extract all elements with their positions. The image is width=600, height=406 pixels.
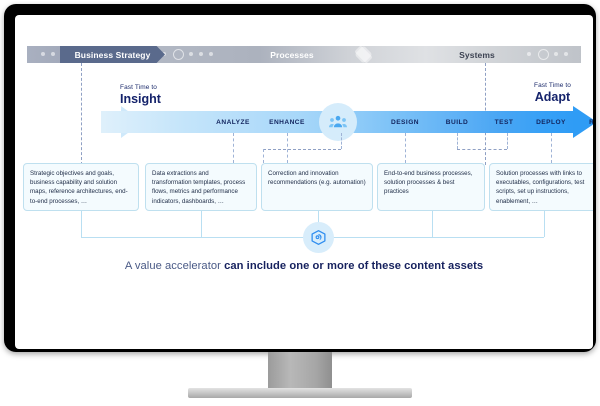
caption-emphasis: can include one or more of these content… <box>224 260 483 272</box>
slide-content: Business Strategy Processes Systems Fast… <box>15 15 593 349</box>
phase-deploy[interactable]: DEPLOY <box>525 111 577 133</box>
layer-business-strategy-label: Business Strategy <box>75 50 151 60</box>
phase-arrow-band: ANALYZE ENHANCE DESIGN <box>101 111 593 133</box>
phase-build[interactable]: BUILD <box>433 111 481 133</box>
monitor-screen: Business Strategy Processes Systems Fast… <box>15 15 593 349</box>
monitor-stand-base <box>188 388 412 398</box>
connector-design-system <box>405 133 406 163</box>
connector-deploy <box>551 133 552 163</box>
content-asset-box[interactable]: Strategic objectives and goals, business… <box>23 163 139 211</box>
cube-icon <box>303 222 334 253</box>
phase-run[interactable]: RUN <box>575 111 593 133</box>
content-asset-box[interactable]: Data extractions and transformation temp… <box>145 163 257 211</box>
phase-enhance-label: ENHANCE <box>269 119 305 126</box>
connector-test <box>507 133 508 149</box>
content-asset-text: Correction and innovation recommendation… <box>268 169 366 187</box>
content-asset-text: End-to-end business processes, solution … <box>384 169 478 197</box>
content-asset-box[interactable]: End-to-end business processes, solution … <box>377 163 485 211</box>
phase-design-system[interactable]: DESIGN <box>379 111 431 133</box>
monitor-stand-neck <box>268 352 332 390</box>
layer-boundary-left <box>81 63 82 165</box>
layer-business-strategy[interactable]: Business Strategy <box>60 46 165 63</box>
content-asset-text: Strategic objectives and goals, business… <box>30 169 132 206</box>
slide-caption: A value accelerator can include one or m… <box>15 260 593 272</box>
layer-processes[interactable]: Processes <box>232 46 352 63</box>
content-asset-text: Data extractions and transformation temp… <box>152 169 250 206</box>
people-group-icon <box>319 103 357 141</box>
content-asset-text: Solution processes with links to executa… <box>496 169 592 206</box>
layer-processes-label: Processes <box>270 50 313 60</box>
gear-icon <box>354 46 372 63</box>
monitor-bezel: Business Strategy Processes Systems Fast… <box>4 4 596 352</box>
phase-test-label: TEST <box>495 119 514 126</box>
connector-enhance <box>287 133 288 163</box>
layer-systems[interactable]: Systems <box>417 46 537 63</box>
phase-build-label: BUILD <box>446 119 468 126</box>
outcome-adapt-eyebrow: Fast Time to <box>534 81 571 90</box>
content-asset-box[interactable]: Correction and innovation recommendation… <box>261 163 373 211</box>
phase-design-system-label: DESIGN <box>391 119 419 126</box>
phase-run-label: RUN <box>589 119 593 126</box>
layer-systems-label: Systems <box>459 50 495 60</box>
outcome-adapt: Fast Time to Adapt <box>534 81 571 105</box>
architecture-layer-bar: Business Strategy Processes Systems <box>27 46 581 63</box>
hub-drop-5 <box>544 211 545 237</box>
outcome-insight: Fast Time to Insight <box>120 83 161 107</box>
hub-drop-1 <box>81 211 82 237</box>
phase-enhance[interactable]: ENHANCE <box>261 111 313 133</box>
outcome-adapt-title: Adapt <box>534 90 571 105</box>
outcome-insight-title: Insight <box>120 92 161 107</box>
outcome-insight-eyebrow: Fast Time to <box>120 83 161 92</box>
connector-design-process <box>341 133 342 149</box>
connector-design-process-drop <box>263 149 264 163</box>
monitor-device: Business Strategy Processes Systems Fast… <box>0 0 600 406</box>
phase-analyze[interactable]: ANALYZE <box>207 111 259 133</box>
content-asset-box[interactable]: Solution processes with links to executa… <box>489 163 593 211</box>
hub-drop-4 <box>432 211 433 237</box>
connector-analyze <box>233 133 234 163</box>
caption-lead: A value accelerator <box>125 260 224 272</box>
phase-analyze-label: ANALYZE <box>216 119 250 126</box>
connector-build-rail <box>457 149 507 150</box>
phase-test[interactable]: TEST <box>481 111 527 133</box>
hub-drop-2 <box>201 211 202 237</box>
connector-build <box>457 133 458 149</box>
phase-deploy-label: DEPLOY <box>536 119 566 126</box>
connector-design-process-rail <box>263 149 341 150</box>
